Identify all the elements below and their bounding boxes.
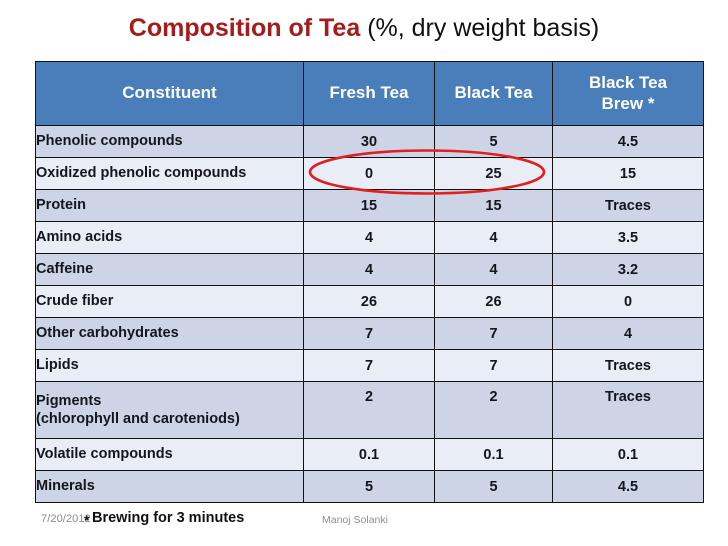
cell-black-tea: 7 (435, 318, 553, 350)
table-header-row: Constituent Fresh Tea Black Tea Black Te… (36, 62, 704, 126)
cell-constituent: Phenolic compounds (36, 126, 304, 158)
cell-constituent-line2: (chlorophyll and caroteniods) (36, 410, 303, 428)
cell-fresh-tea: 2 (304, 382, 435, 439)
column-header-black-tea-brew: Black Tea Brew * (553, 62, 704, 126)
cell-black-tea: 5 (435, 471, 553, 503)
cell-black-tea: 0.1 (435, 439, 553, 471)
tea-composition-table-container: Constituent Fresh Tea Black Tea Black Te… (35, 61, 703, 503)
footnote-text: Brewing for 3 minutes (92, 510, 244, 526)
cell-black-tea-brew: Traces (553, 382, 704, 439)
cell-fresh-tea: 4 (304, 254, 435, 286)
cell-fresh-tea: 7 (304, 350, 435, 382)
table-row: Volatile compounds 0.1 0.1 0.1 (36, 439, 704, 471)
cell-fresh-tea: 5 (304, 471, 435, 503)
cell-fresh-tea: 26 (304, 286, 435, 318)
cell-black-tea-brew: 15 (553, 158, 704, 190)
table-row: Phenolic compounds 30 5 4.5 (36, 126, 704, 158)
table-row: Crude fiber 26 26 0 (36, 286, 704, 318)
cell-fresh-tea: 4 (304, 222, 435, 254)
cell-fresh-tea: 30 (304, 126, 435, 158)
cell-black-tea-brew: 4.5 (553, 471, 704, 503)
table-body: Phenolic compounds 30 5 4.5 Oxidized phe… (36, 126, 704, 503)
cell-fresh-tea: 0 (304, 158, 435, 190)
cell-constituent: Lipids (36, 350, 304, 382)
cell-constituent: Other carbohydrates (36, 318, 304, 350)
cell-constituent: Volatile compounds (36, 439, 304, 471)
table-row: Amino acids 4 4 3.5 (36, 222, 704, 254)
cell-black-tea: 26 (435, 286, 553, 318)
cell-fresh-tea: 15 (304, 190, 435, 222)
footnote-asterisk: * (84, 512, 89, 528)
column-header-black-tea-brew-line1: Black Tea (589, 73, 667, 92)
column-header-black-tea: Black Tea (435, 62, 553, 126)
cell-black-tea: 7 (435, 350, 553, 382)
table-row: Caffeine 4 4 3.2 (36, 254, 704, 286)
cell-fresh-tea: 0.1 (304, 439, 435, 471)
page-title-main: Composition of Tea (129, 14, 360, 42)
table-header: Constituent Fresh Tea Black Tea Black Te… (36, 62, 704, 126)
column-header-black-tea-brew-line2: Brew * (602, 94, 655, 113)
cell-constituent: Minerals (36, 471, 304, 503)
cell-constituent: Oxidized phenolic compounds (36, 158, 304, 190)
cell-black-tea-brew: Traces (553, 190, 704, 222)
cell-black-tea-brew: 3.5 (553, 222, 704, 254)
cell-black-tea: 5 (435, 126, 553, 158)
cell-constituent: Amino acids (36, 222, 304, 254)
cell-black-tea: 2 (435, 382, 553, 439)
footer-author: Manoj Solanki (322, 514, 388, 526)
cell-black-tea-brew: 4 (553, 318, 704, 350)
slide-footer: 7/20/2012 * Brewing for 3 minutes Manoj … (0, 508, 728, 546)
cell-black-tea: 15 (435, 190, 553, 222)
cell-black-tea: 25 (435, 158, 553, 190)
table-row: Other carbohydrates 7 7 4 (36, 318, 704, 350)
cell-black-tea-brew: 0 (553, 286, 704, 318)
table-row: Protein 15 15 Traces (36, 190, 704, 222)
tea-composition-table: Constituent Fresh Tea Black Tea Black Te… (35, 61, 704, 503)
cell-black-tea: 4 (435, 254, 553, 286)
cell-constituent: Crude fiber (36, 286, 304, 318)
cell-constituent-line1: Pigments (36, 393, 101, 409)
cell-black-tea: 4 (435, 222, 553, 254)
cell-black-tea-brew: 3.2 (553, 254, 704, 286)
cell-constituent: Caffeine (36, 254, 304, 286)
cell-black-tea-brew: 0.1 (553, 439, 704, 471)
column-header-constituent: Constituent (36, 62, 304, 126)
page-title-subtitle: (%, dry weight basis) (360, 14, 599, 42)
column-header-fresh-tea: Fresh Tea (304, 62, 435, 126)
cell-fresh-tea: 7 (304, 318, 435, 350)
cell-constituent: Protein (36, 190, 304, 222)
table-row: Oxidized phenolic compounds 0 25 15 (36, 158, 704, 190)
table-row: Pigments (chlorophyll and caroteniods) 2… (36, 382, 704, 439)
table-row: Lipids 7 7 Traces (36, 350, 704, 382)
cell-black-tea-brew: Traces (553, 350, 704, 382)
cell-black-tea-brew: 4.5 (553, 126, 704, 158)
page-title: Composition of Tea (%, dry weight basis) (0, 14, 728, 43)
table-row: Minerals 5 5 4.5 (36, 471, 704, 503)
cell-constituent: Pigments (chlorophyll and caroteniods) (36, 382, 304, 439)
